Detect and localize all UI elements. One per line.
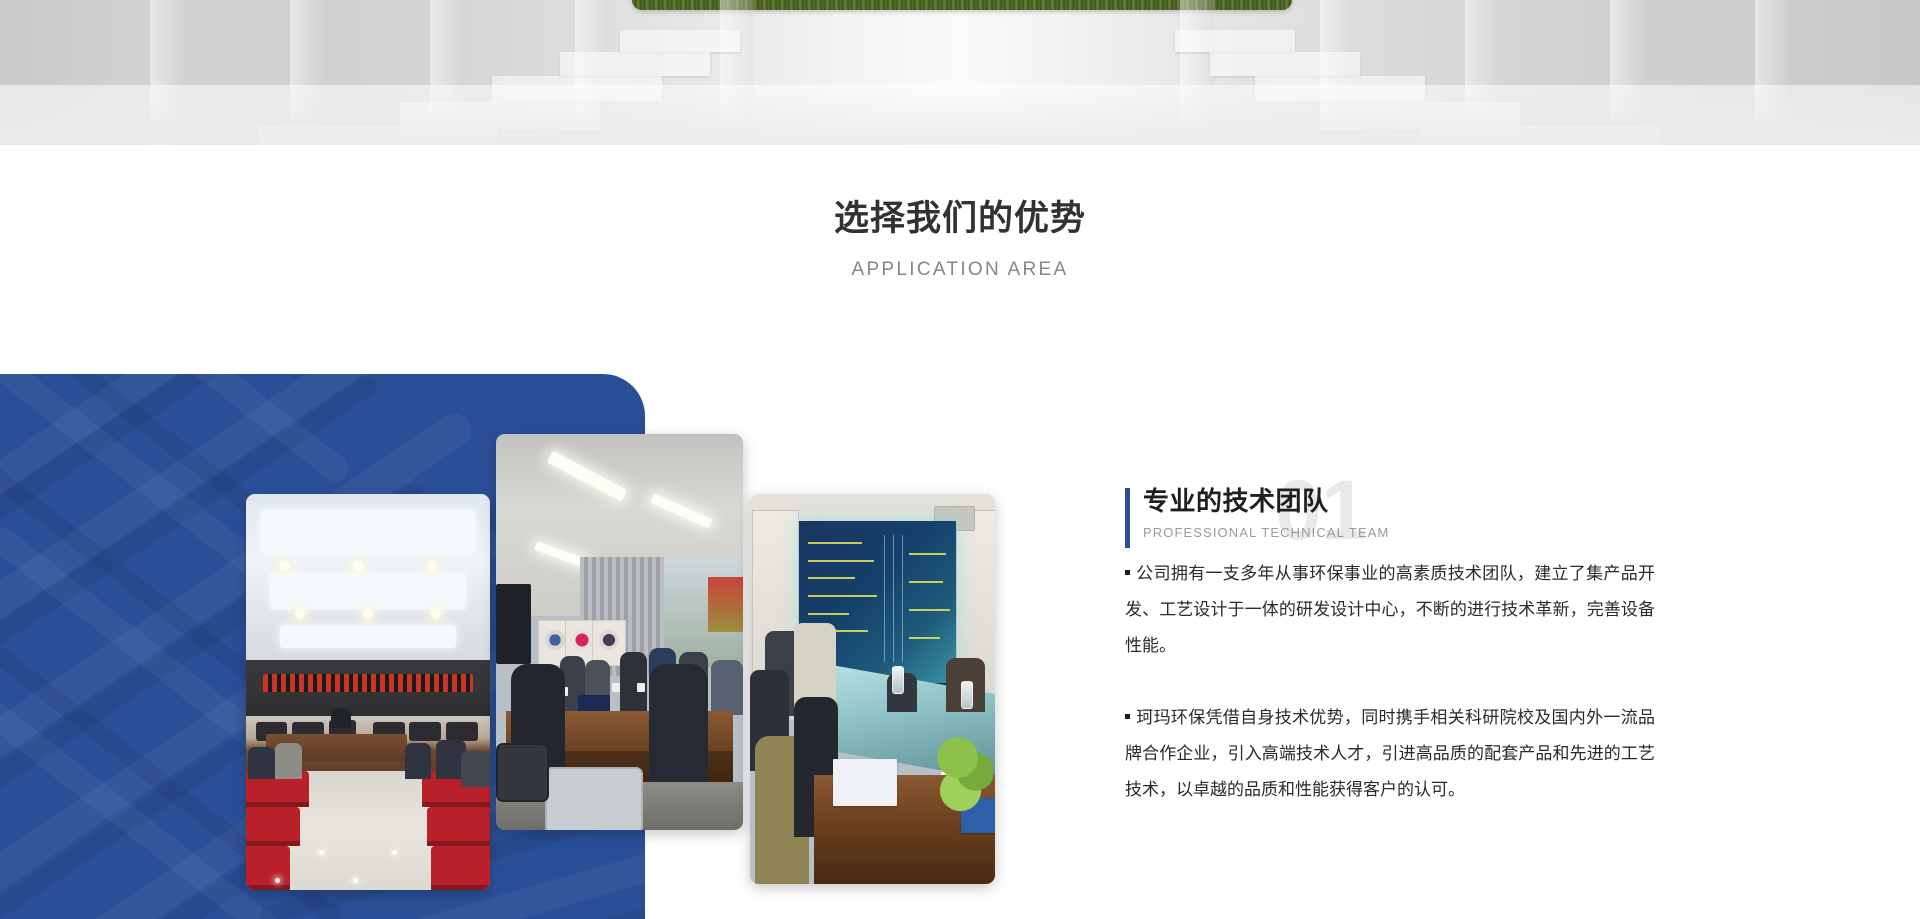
auditorium-photo[interactable]: [246, 494, 490, 890]
banner-slab: [620, 30, 740, 52]
feature-paragraph: 公司拥有一支多年从事环保事业的高素质技术团队，建立了集产品开发、工艺设计于一体的…: [1125, 556, 1655, 664]
page-subtitle: APPLICATION AREA: [0, 259, 1920, 281]
document: [833, 759, 897, 806]
banner-slab: [1175, 30, 1295, 52]
section-heading: 选择我们的优势 APPLICATION AREA: [0, 196, 1920, 281]
banner-slab: [560, 52, 710, 76]
potted-plant: [934, 720, 993, 814]
chair: [545, 767, 643, 830]
banner-floor: [0, 85, 1920, 145]
feature-title-cn: 专业的技术团队: [1143, 484, 1655, 519]
feature-paragraph-text: 公司拥有一支多年从事环保事业的高素质技术团队，建立了集产品开发、工艺设计于一体的…: [1125, 564, 1655, 655]
bullet-marker: [1125, 570, 1130, 575]
presentation-photo[interactable]: [750, 494, 995, 884]
hero-banner: [0, 0, 1920, 145]
feature-block: 01 专业的技术团队 PROFESSIONAL TECHNICAL TEAM 公…: [1125, 484, 1655, 808]
page-root: 选择我们的优势 APPLICATION AREA: [0, 0, 1920, 919]
feature-title-en: PROFESSIONAL TECHNICAL TEAM: [1143, 525, 1655, 540]
accent-bar: [1125, 488, 1130, 548]
meeting-room-photo[interactable]: [496, 434, 743, 830]
feature-paragraph: 珂玛环保凭借自身技术优势，同时携手相关科研院校及国内外一流品牌合作企业，引入高端…: [1125, 700, 1655, 808]
feature-paragraph-text: 珂玛环保凭借自身技术优势，同时携手相关科研院校及国内外一流品牌合作企业，引入高端…: [1125, 708, 1655, 799]
led-banner: [263, 674, 473, 692]
page-title: 选择我们的优势: [0, 196, 1920, 242]
feature-heading: 01 专业的技术团队 PROFESSIONAL TECHNICAL TEAM: [1125, 484, 1655, 556]
banner-slab: [1210, 52, 1360, 76]
chair: [496, 743, 549, 802]
wall-display: [496, 584, 531, 663]
bullet-marker: [1125, 714, 1130, 719]
